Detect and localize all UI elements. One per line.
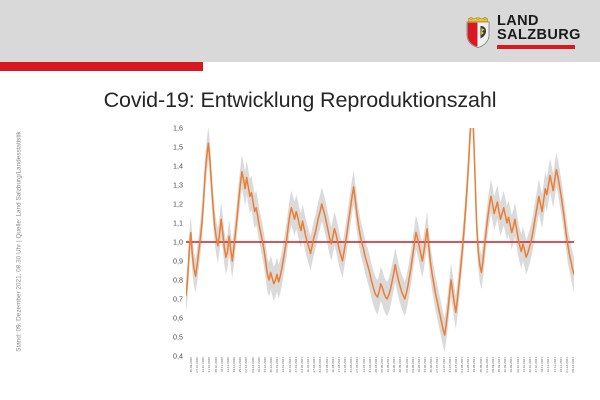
x-tick-label: 26.05.2021 <box>398 357 402 372</box>
x-tick-label: 22.09.2021 <box>503 357 507 372</box>
x-tick-label: 01.09.2021 <box>485 357 489 372</box>
x-tick-label: 14.07.2021 <box>442 357 446 372</box>
x-tick-label: 20.01.2021 <box>288 357 292 372</box>
x-tick-label: 02.12.2020 <box>244 357 248 372</box>
y-tick-label: 1,3 <box>155 181 183 190</box>
x-tick-label: 28.10.2020 <box>214 357 218 372</box>
x-tick-label: 31.03.2021 <box>349 357 353 372</box>
x-tick-label: 10.02.2021 <box>306 357 310 372</box>
x-tick-label: 01.12.2021 <box>565 357 569 372</box>
x-tick-label: 23.12.2020 <box>263 357 267 372</box>
page-title: Covid-19: Entwicklung Reproduktionszahl <box>0 88 600 113</box>
x-tick-label: 17.11.2021 <box>553 357 557 372</box>
y-axis: 1,61,51,41,31,21,11,00,90,80,70,60,50,4 <box>155 128 183 356</box>
y-tick-label: 0,7 <box>155 295 183 304</box>
x-tick-label: 03.02.2021 <box>300 357 304 372</box>
x-tick-label: 03.11.2021 <box>540 357 544 372</box>
x-tick-label: 24.02.2021 <box>318 357 322 372</box>
x-tick-label: 08.09.2021 <box>491 357 495 372</box>
x-tick-label: 21.10.2020 <box>207 357 211 372</box>
reproduction-number-chart: 1,61,51,41,31,21,11,00,90,80,70,60,50,4 … <box>155 128 585 390</box>
x-tick-label: 08.12.2021 <box>571 357 574 372</box>
x-tick-label: 30.12.2020 <box>269 357 273 372</box>
y-tick-label: 1,0 <box>155 238 183 247</box>
x-tick-label: 13.01.2021 <box>281 357 285 372</box>
land-salzburg-logo: LAND SALZBURG <box>466 12 586 52</box>
slide-root: LAND SALZBURG Covid-19: Entwicklung Repr… <box>0 0 600 400</box>
x-tick-label: 28.04.2021 <box>374 357 378 372</box>
y-tick-label: 0,8 <box>155 276 183 285</box>
x-tick-label: 09.12.2020 <box>251 357 255 372</box>
x-tick-label: 15.09.2021 <box>497 357 501 372</box>
x-tick-label: 27.01.2021 <box>294 357 298 372</box>
x-tick-label: 10.11.2021 <box>546 357 550 372</box>
y-tick-label: 0,5 <box>155 333 183 342</box>
x-tick-label: 17.02.2021 <box>312 357 316 372</box>
x-tick-label: 24.03.2021 <box>343 357 347 372</box>
x-tick-label: 05.05.2021 <box>380 357 384 372</box>
y-tick-label: 1,4 <box>155 162 183 171</box>
source-note: Stand: 09. Dezember 2021, 08.30 Uhr | Qu… <box>16 117 23 367</box>
x-tick-label: 21.07.2021 <box>448 357 452 372</box>
x-tick-label: 14.04.2021 <box>362 357 366 372</box>
x-tick-label: 24.11.2021 <box>559 357 563 372</box>
x-tick-label: 16.06.2021 <box>417 357 421 372</box>
x-tick-label: 07.04.2021 <box>355 357 359 372</box>
x-tick-label: 09.06.2021 <box>411 357 415 372</box>
x-tick-label: 02.06.2021 <box>405 357 409 372</box>
x-tick-label: 06.01.2021 <box>275 357 279 372</box>
y-tick-label: 0,6 <box>155 314 183 323</box>
y-tick-label: 1,6 <box>155 124 183 133</box>
x-tick-label: 06.10.2021 <box>516 357 520 372</box>
y-tick-label: 1,1 <box>155 219 183 228</box>
y-tick-label: 0,4 <box>155 352 183 361</box>
confidence-band <box>186 128 574 352</box>
x-tick-label: 18.11.2020 <box>232 357 236 372</box>
x-tick-label: 25.08.2021 <box>479 357 483 372</box>
x-tick-label: 21.04.2021 <box>368 357 372 372</box>
x-tick-label: 19.05.2021 <box>392 357 396 372</box>
x-tick-label: 25.11.2020 <box>238 357 242 372</box>
x-axis: 30.09.202007.10.202014.10.202021.10.2020… <box>186 357 574 390</box>
x-tick-label: 30.06.2021 <box>429 357 433 372</box>
x-tick-label: 11.11.2020 <box>226 357 230 372</box>
x-tick-label: 10.03.2021 <box>331 357 335 372</box>
x-tick-label: 11.08.2021 <box>466 357 470 372</box>
x-tick-label: 07.10.2020 <box>195 357 199 372</box>
x-tick-label: 12.05.2021 <box>386 357 390 372</box>
y-tick-label: 1,2 <box>155 200 183 209</box>
x-tick-label: 14.10.2020 <box>201 357 205 372</box>
x-tick-label: 13.10.2021 <box>522 357 526 372</box>
x-tick-label: 07.07.2021 <box>435 357 439 372</box>
x-tick-label: 28.07.2021 <box>454 357 458 372</box>
x-tick-label: 16.12.2020 <box>257 357 261 372</box>
x-tick-label: 23.06.2021 <box>423 357 427 372</box>
x-tick-label: 04.11.2020 <box>220 357 224 372</box>
x-tick-label: 29.09.2021 <box>509 357 513 372</box>
x-tick-label: 04.08.2021 <box>460 357 464 372</box>
salzburg-coat-of-arms-icon <box>466 17 490 48</box>
logo-underline <box>497 45 575 49</box>
plot-svg <box>186 128 574 356</box>
plot-area <box>186 128 574 356</box>
x-tick-label: 03.03.2021 <box>325 357 329 372</box>
y-tick-label: 1,5 <box>155 143 183 152</box>
header-accent-bar <box>0 62 203 71</box>
x-tick-label: 30.09.2020 <box>189 357 193 372</box>
x-tick-label: 17.03.2021 <box>337 357 341 372</box>
x-tick-label: 18.08.2021 <box>472 357 476 372</box>
x-tick-label: 27.10.2021 <box>534 357 538 372</box>
y-tick-label: 0,9 <box>155 257 183 266</box>
logo-line-2: SALZBURG <box>497 29 581 43</box>
x-tick-label: 20.10.2021 <box>528 357 532 372</box>
